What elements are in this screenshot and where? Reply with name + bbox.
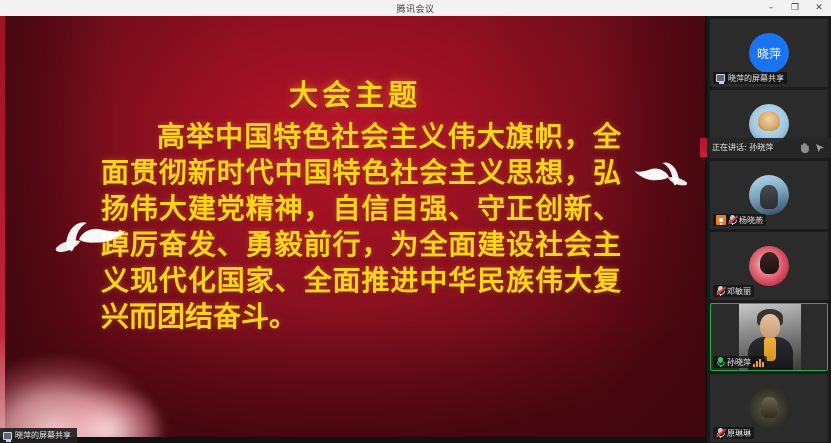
speaking-text: 正在讲话: 孙晓萍 bbox=[712, 142, 773, 153]
window-controls: – ❐ ✕ bbox=[759, 0, 831, 16]
close-button[interactable]: ✕ bbox=[807, 0, 831, 16]
audio-level-icon bbox=[753, 358, 764, 367]
participant-rail[interactable]: 晓萍 晓萍的屏幕共享 杨晓燕 bbox=[707, 16, 831, 443]
banner-icons[interactable] bbox=[798, 141, 826, 154]
video-head bbox=[760, 314, 780, 338]
participant-namebar: 邓敏丽 bbox=[713, 285, 754, 297]
screen-share-label: 晓萍的屏幕共享 bbox=[15, 430, 71, 441]
participant-namebar: 原琳琳 bbox=[713, 427, 754, 439]
participant-namebar: 孙晓萍 bbox=[713, 356, 767, 368]
maximize-button[interactable]: ❐ bbox=[783, 0, 807, 16]
cloud-decoration-secondary bbox=[33, 369, 183, 437]
participant-tile[interactable]: 原琳琳 bbox=[710, 374, 828, 442]
mic-muted-icon bbox=[716, 286, 725, 296]
tencent-meeting-window: 腾讯会议 – ❐ ✕ 大会主题 高举中国特色社会主义伟大旗帜，全面贯彻新时代中国… bbox=[0, 0, 831, 443]
mic-unmuted-icon bbox=[716, 357, 725, 367]
avatar bbox=[749, 246, 789, 286]
speaking-banner: 正在讲话: 孙晓萍 bbox=[700, 138, 831, 157]
participant-namebar: 杨晓燕 bbox=[713, 214, 766, 226]
avatar bbox=[749, 175, 789, 215]
mic-muted-icon bbox=[716, 428, 725, 438]
avatar: 晓萍 bbox=[749, 33, 789, 73]
window-titlebar: 腾讯会议 – ❐ ✕ bbox=[0, 0, 831, 16]
hand-raise-icon bbox=[798, 141, 811, 154]
tile-share-label: 晓萍的屏幕共享 bbox=[713, 72, 787, 84]
dove-icon bbox=[631, 155, 692, 197]
cursor-icon bbox=[814, 142, 826, 154]
window-title: 腾讯会议 bbox=[396, 2, 434, 15]
avatar bbox=[749, 388, 789, 428]
mic-muted-icon bbox=[728, 215, 737, 225]
banner-accent bbox=[700, 138, 707, 157]
minimize-button[interactable]: – bbox=[759, 0, 783, 16]
cloud-decoration bbox=[5, 327, 197, 437]
participant-tile[interactable]: 杨晓燕 bbox=[710, 161, 828, 229]
participant-tile[interactable]: 晓萍 晓萍的屏幕共享 bbox=[710, 19, 828, 87]
slide-body-text: 高举中国特色社会主义伟大旗帜，全面贯彻新时代中国特色社会主义思想，弘扬伟大建党精… bbox=[101, 119, 621, 335]
participant-name: 孙晓萍 bbox=[727, 357, 751, 368]
host-icon bbox=[716, 215, 726, 225]
participant-tile-active-speaker[interactable]: 孙晓萍 bbox=[710, 303, 828, 371]
screen-share-indicator: 晓萍的屏幕共享 bbox=[0, 428, 77, 443]
participant-name: 邓敏丽 bbox=[727, 286, 751, 297]
monitor-icon bbox=[3, 432, 12, 440]
participant-name: 原琳琳 bbox=[727, 428, 751, 439]
participant-name: 晓萍的屏幕共享 bbox=[728, 73, 784, 84]
participant-tile[interactable]: 邓敏丽 bbox=[710, 232, 828, 300]
monitor-icon bbox=[716, 74, 725, 82]
slide-title: 大会主题 bbox=[5, 72, 705, 114]
participant-name: 杨晓燕 bbox=[739, 215, 763, 226]
presentation-slide: 大会主题 高举中国特色社会主义伟大旗帜，全面贯彻新时代中国特色社会主义思想，弘扬… bbox=[5, 16, 705, 437]
shared-screen-stage[interactable]: 大会主题 高举中国特色社会主义伟大旗帜，全面贯彻新时代中国特色社会主义思想，弘扬… bbox=[0, 16, 707, 443]
